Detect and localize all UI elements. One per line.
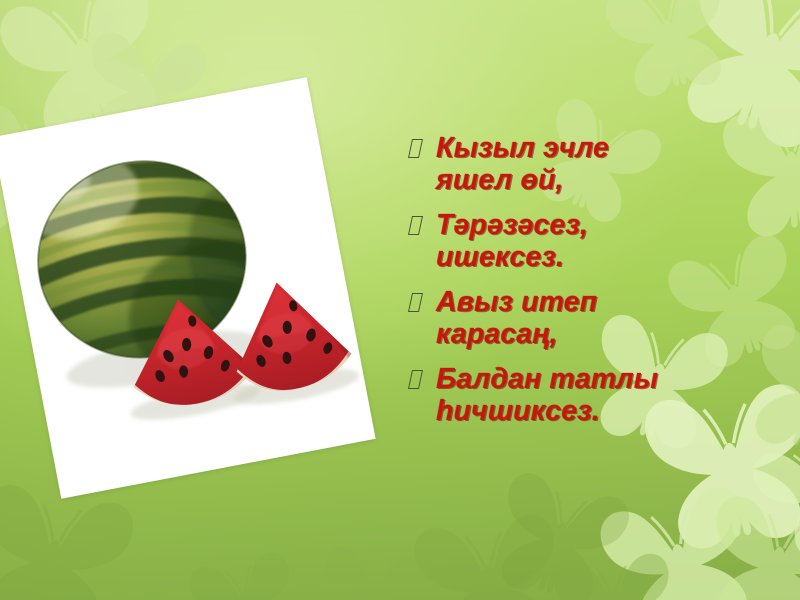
- riddle-line-2: Тәрәзәсез, ишексез.: [436, 209, 790, 274]
- riddle-line-3: Авыз итеп карасаң,: [436, 286, 790, 351]
- list-item[interactable]: Авыз итеп карасаң,: [410, 286, 790, 351]
- riddle-line-4: Балдан татлы һичшиксез.: [436, 363, 790, 428]
- slide-canvas: Кызыл эчле яшел өй, Тәрәзәсез, ишексез. …: [0, 0, 800, 600]
- riddle-bullet-list: Кызыл эчле яшел өй, Тәрәзәсез, ишексез. …: [410, 132, 790, 440]
- bullet-marker-icon: [410, 287, 436, 316]
- bullet-marker-icon: [410, 210, 436, 239]
- list-item[interactable]: Кызыл эчле яшел өй,: [410, 132, 790, 197]
- list-item[interactable]: Тәрәзәсез, ишексез.: [410, 209, 790, 274]
- bullet-marker-icon: [410, 133, 436, 162]
- list-item[interactable]: Балдан татлы һичшиксез.: [410, 363, 790, 428]
- bullet-marker-icon: [410, 364, 436, 393]
- riddle-line-1: Кызыл эчле яшел өй,: [436, 132, 790, 197]
